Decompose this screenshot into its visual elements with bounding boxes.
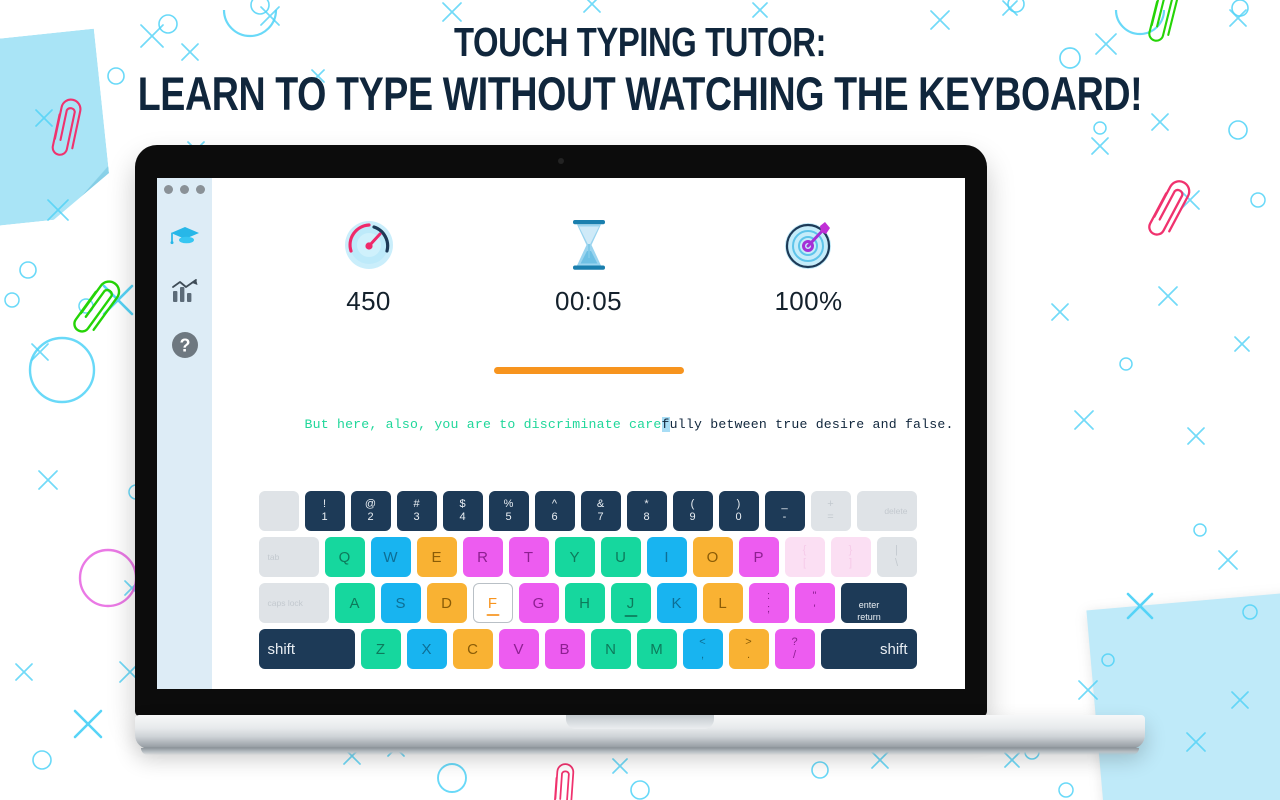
key-v[interactable]: V — [499, 629, 539, 669]
hourglass-icon — [567, 218, 611, 272]
key-label: A — [349, 595, 359, 612]
key-label: P — [753, 549, 763, 566]
key-p[interactable]: P — [739, 537, 779, 577]
keyboard-row: tabQWERTYUIOP{[}]|\ — [259, 537, 919, 577]
target-dart-icon — [782, 218, 836, 272]
key-bottom-label: 2 — [367, 512, 373, 523]
key-label: K — [671, 595, 681, 612]
key-label: Z — [376, 641, 385, 658]
key-o[interactable]: O — [693, 537, 733, 577]
svg-text:?: ? — [179, 336, 190, 356]
key-;[interactable]: :; — [749, 583, 789, 623]
key-bottom-label: 8 — [643, 512, 649, 523]
key-][interactable]: }] — [831, 537, 871, 577]
key-bottom-label: [ — [803, 558, 806, 569]
key-top-label: : — [767, 591, 770, 602]
key-label: delete — [884, 506, 907, 516]
window-dot-minimize[interactable] — [180, 185, 189, 194]
key-d[interactable]: D — [427, 583, 467, 623]
key-bottom-label: 4 — [459, 512, 465, 523]
key-label: U — [615, 549, 626, 566]
key-bottom-label: 5 — [505, 512, 511, 523]
question-circle-icon: ? — [171, 331, 199, 359]
key-label: Y — [569, 549, 579, 566]
stat-accuracy: 100% — [761, 216, 857, 317]
key-top-label: ^ — [552, 499, 557, 510]
laptop-base-foot — [141, 748, 1139, 755]
app-sidebar: ? — [157, 178, 212, 689]
key-6[interactable]: ^6 — [535, 491, 575, 531]
key-label: O — [707, 549, 719, 566]
key-x[interactable]: X — [407, 629, 447, 669]
key-label: R — [477, 549, 488, 566]
key-7[interactable]: &7 — [581, 491, 621, 531]
key-top-label: > — [745, 637, 751, 648]
key-label: F — [488, 595, 497, 612]
key-shift[interactable]: shift — [259, 629, 355, 669]
key-bottom-label: 0 — [735, 512, 741, 523]
key-/[interactable]: ?/ — [775, 629, 815, 669]
key-bottom-label: . — [747, 650, 750, 661]
key-bottom-label: - — [783, 512, 787, 523]
key-label: J — [627, 595, 635, 612]
laptop-base-wrap — [135, 715, 1145, 749]
key-label: W — [383, 549, 397, 566]
key-label: X — [421, 641, 431, 658]
key-l[interactable]: L — [703, 583, 743, 623]
key-tab[interactable]: tab — [259, 537, 319, 577]
key-label: H — [579, 595, 590, 612]
key-r[interactable]: R — [463, 537, 503, 577]
key-=[interactable]: += — [811, 491, 851, 531]
key-label: G — [533, 595, 545, 612]
key-enter[interactable]: enterreturn — [841, 583, 907, 623]
stat-time-value: 00:05 — [555, 286, 622, 317]
key-i[interactable]: I — [647, 537, 687, 577]
key-3[interactable]: #3 — [397, 491, 437, 531]
laptop-base — [135, 715, 1145, 749]
key-top-label: * — [644, 499, 648, 510]
key-label: tab — [268, 552, 280, 562]
typed-text: But here, also, you are to discriminate … — [305, 417, 662, 432]
key-1[interactable]: !1 — [305, 491, 345, 531]
key-bottom-label: \ — [895, 558, 898, 569]
key-label: shift — [880, 641, 908, 658]
app-main: 450 00: — [212, 178, 965, 689]
current-char: f — [662, 417, 670, 432]
key-label: Q — [339, 549, 351, 566]
key-q[interactable]: Q — [325, 537, 365, 577]
speedometer-icon-wrap — [342, 216, 396, 274]
key-,[interactable]: <, — [683, 629, 723, 669]
key-g[interactable]: G — [519, 583, 559, 623]
key-.[interactable]: >. — [729, 629, 769, 669]
key-bottom-label: ' — [813, 604, 815, 615]
page-title-line1: TOUCH TYPING TUTOR: — [128, 22, 1152, 64]
key-'[interactable]: "' — [795, 583, 835, 623]
keyboard-row: shiftZXCVBNM<,>.?/shift — [259, 629, 919, 669]
home-row-marker — [486, 614, 499, 616]
key-4[interactable]: $4 — [443, 491, 483, 531]
home-row-marker — [624, 615, 637, 617]
key-top-label: _ — [781, 499, 787, 510]
key-shift[interactable]: shift — [821, 629, 917, 669]
key-label: V — [513, 641, 523, 658]
laptop-mockup: ? — [135, 145, 1145, 749]
key-y[interactable]: Y — [555, 537, 595, 577]
key-label: E — [431, 549, 441, 566]
key-label: N — [605, 641, 616, 658]
bar-chart-arrow-icon — [171, 278, 199, 304]
key-u[interactable]: U — [601, 537, 641, 577]
key-f[interactable]: F — [473, 583, 513, 623]
key-\[interactable]: |\ — [877, 537, 917, 577]
key-top-label: $ — [459, 499, 465, 510]
key-top-label: ? — [791, 637, 797, 648]
key-top-label: & — [597, 499, 604, 510]
target-dart-icon-wrap — [782, 216, 836, 274]
keyboard-row: caps lockASDFGHJKL:;"'enterreturn — [259, 583, 919, 623]
sidebar-item-statistics[interactable] — [168, 274, 202, 308]
key-a[interactable]: A — [335, 583, 375, 623]
key-bottom-label: 9 — [689, 512, 695, 523]
key-label: shift — [268, 641, 296, 658]
key-top-label: + — [827, 499, 833, 510]
key-9[interactable]: (9 — [673, 491, 713, 531]
stat-speed: 450 — [321, 216, 417, 317]
key-5[interactable]: %5 — [489, 491, 529, 531]
key-c[interactable]: C — [453, 629, 493, 669]
key-t[interactable]: T — [509, 537, 549, 577]
key-k[interactable]: K — [657, 583, 697, 623]
key--[interactable]: _- — [765, 491, 805, 531]
key-label: C — [467, 641, 478, 658]
key-top-label: # — [413, 499, 419, 510]
key-2[interactable]: @2 — [351, 491, 391, 531]
speedometer-icon — [342, 218, 396, 272]
key-bottom-label: ] — [849, 558, 852, 569]
key-top-label: ! — [323, 499, 326, 510]
stats-row: 450 00: — [321, 216, 857, 317]
key-w[interactable]: W — [371, 537, 411, 577]
key-top-label: ) — [737, 499, 741, 510]
window-dot-close[interactable] — [164, 185, 173, 194]
key-e[interactable]: E — [417, 537, 457, 577]
key-top-label: < — [699, 637, 705, 648]
key-label: B — [559, 641, 569, 658]
stat-accuracy-value: 100% — [774, 286, 842, 317]
key-b[interactable]: B — [545, 629, 585, 669]
key-label: S — [395, 595, 405, 612]
key-backtick[interactable] — [259, 491, 299, 531]
key-m[interactable]: M — [637, 629, 677, 669]
key-label: enter — [859, 600, 880, 611]
remaining-text: ully between true desire and false. — [670, 417, 954, 432]
progress-bar-fill — [494, 367, 684, 374]
hourglass-icon-wrap — [567, 216, 611, 274]
sidebar-item-help[interactable]: ? — [168, 328, 202, 362]
graduation-cap-icon — [170, 225, 200, 249]
key-label: return — [857, 612, 881, 623]
key-h[interactable]: H — [565, 583, 605, 623]
key-label: caps lock — [268, 598, 303, 608]
stat-speed-value: 450 — [346, 286, 391, 317]
keyboard-row: !1@2#3$4%5^6&7*8(9)0_-+=delete — [259, 491, 919, 531]
key-s[interactable]: S — [381, 583, 421, 623]
page-title: TOUCH TYPING TUTOR: LEARN TO TYPE WITHOU… — [0, 22, 1280, 118]
key-label: L — [718, 595, 726, 612]
key-label: D — [441, 595, 452, 612]
key-n[interactable]: N — [591, 629, 631, 669]
key-top-label: % — [504, 499, 514, 510]
key-top-label: { — [803, 545, 807, 556]
window-controls — [164, 185, 205, 194]
key-delete[interactable]: delete — [857, 491, 917, 531]
key-top-label: @ — [365, 499, 376, 510]
progress-bar — [399, 367, 779, 374]
key-label: M — [650, 641, 663, 658]
virtual-keyboard[interactable]: !1@2#3$4%5^6&7*8(9)0_-+=deletetabQWERTYU… — [259, 491, 919, 675]
key-top-label: ( — [691, 499, 695, 510]
typing-text: But here, also, you are to discriminate … — [223, 402, 953, 447]
key-label: T — [524, 549, 533, 566]
key-bottom-label: 3 — [413, 512, 419, 523]
key-top-label: " — [813, 591, 817, 602]
key-bottom-label: ; — [767, 604, 770, 615]
key-bottom-label: 7 — [597, 512, 603, 523]
app-screen: ? — [157, 178, 965, 689]
key-bottom-label: 1 — [321, 512, 327, 523]
key-8[interactable]: *8 — [627, 491, 667, 531]
stat-time: 00:05 — [541, 216, 637, 317]
key-label: I — [664, 549, 668, 566]
key-top-label: | — [895, 545, 898, 556]
sidebar-item-lessons[interactable] — [168, 220, 202, 254]
key-top-label: } — [849, 545, 853, 556]
key-bottom-label: / — [793, 650, 796, 661]
key-[[interactable]: {[ — [785, 537, 825, 577]
key-bottom-label: , — [701, 650, 704, 661]
window-dot-zoom[interactable] — [196, 185, 205, 194]
key-bottom-label: 6 — [551, 512, 557, 523]
key-z[interactable]: Z — [361, 629, 401, 669]
laptop-lid: ? — [135, 145, 987, 717]
key-bottom-label: = — [827, 512, 833, 523]
key-caps-lock[interactable]: caps lock — [259, 583, 329, 623]
key-j[interactable]: J — [611, 583, 651, 623]
page-title-line2: LEARN TO TYPE WITHOUT WATCHING THE KEYBO… — [128, 70, 1152, 118]
key-0[interactable]: )0 — [719, 491, 759, 531]
